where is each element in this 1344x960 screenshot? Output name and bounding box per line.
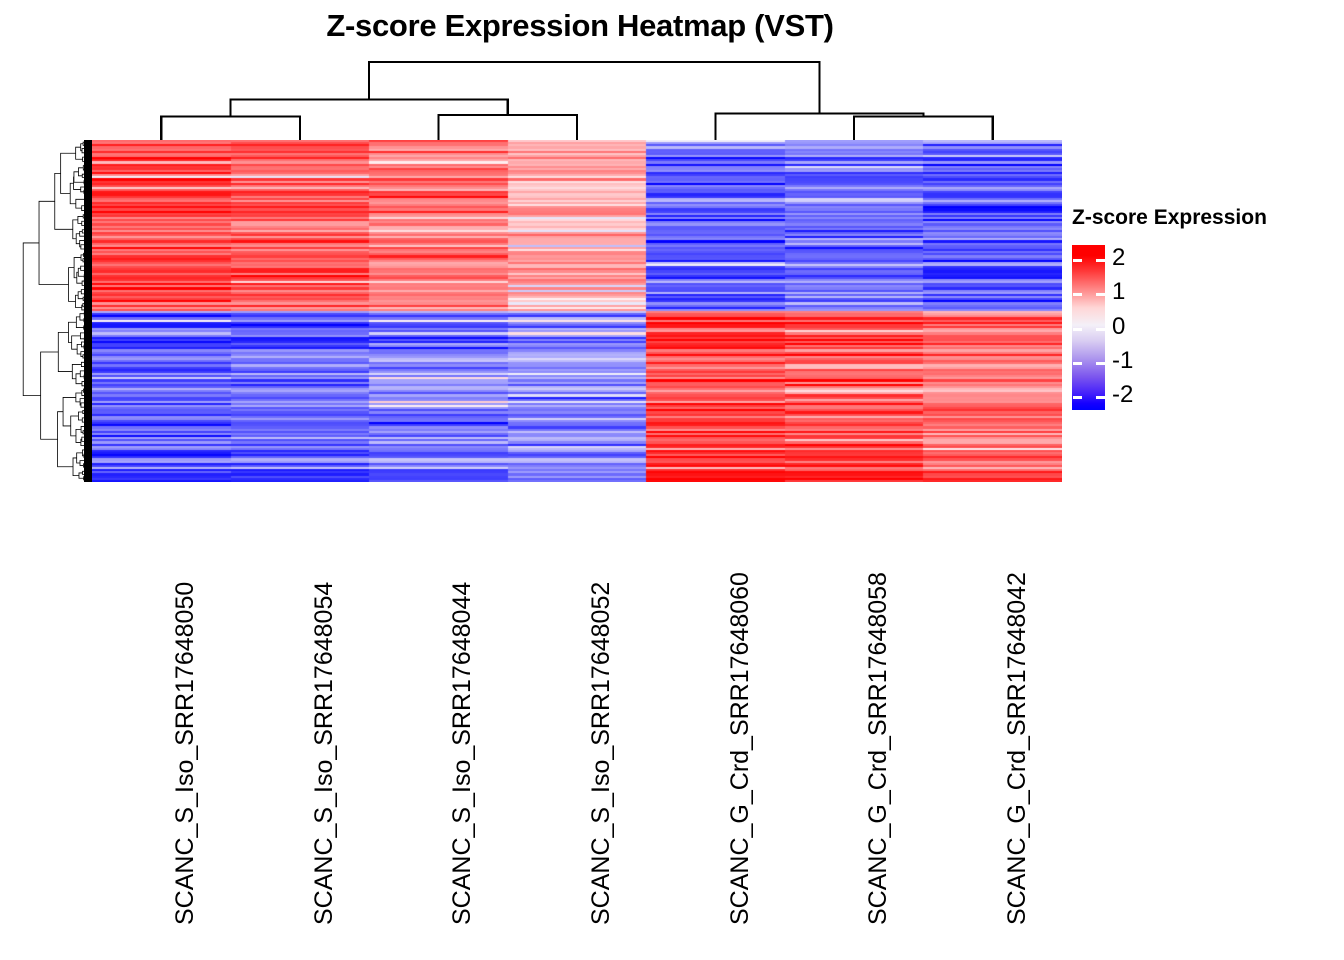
row-dendrogram (22, 140, 92, 482)
heatmap-canvas (92, 140, 1062, 482)
column-label-1: SCANC_S_Iso_SRR17648050 (171, 582, 200, 925)
column-label-7: SCANC_G_Crd_SRR17648042 (1003, 572, 1032, 925)
legend-label-3: -1 (1112, 349, 1133, 373)
column-label-4: SCANC_S_Iso_SRR17648052 (587, 582, 616, 925)
legend-tick-right-4 (1096, 396, 1105, 399)
column-label-3: SCANC_S_Iso_SRR17648044 (448, 582, 477, 925)
heatmap-body (92, 140, 1062, 482)
legend-label-4: -2 (1112, 383, 1133, 407)
legend-label-0: 2 (1112, 246, 1125, 270)
page-title: Z-score Expression Heatmap (VST) (0, 8, 1160, 44)
legend-tick-left-3 (1073, 362, 1082, 365)
legend-label-1: 1 (1112, 280, 1125, 304)
legend-tick-left-1 (1073, 293, 1082, 296)
legend-tick-right-0 (1096, 259, 1105, 262)
column-dendrogram (92, 55, 1062, 140)
column-label-5: SCANC_G_Crd_SRR17648060 (726, 572, 755, 925)
column-label-2: SCANC_S_Iso_SRR17648054 (310, 582, 339, 925)
legend-label-2: 0 (1112, 315, 1125, 339)
legend-tick-left-2 (1073, 328, 1082, 331)
legend-tick-left-4 (1073, 396, 1082, 399)
legend-tick-right-1 (1096, 293, 1105, 296)
legend-tick-right-2 (1096, 328, 1105, 331)
column-label-6: SCANC_G_Crd_SRR17648058 (864, 572, 893, 925)
row-dendrogram-dense-tips (84, 140, 92, 482)
legend-tick-left-0 (1073, 259, 1082, 262)
legend-title: Z-score Expression (1072, 206, 1267, 230)
legend-tick-right-3 (1096, 362, 1105, 365)
heatmap-figure: Z-score Expression Heatmap (VST) SCANC_S… (0, 0, 1344, 960)
